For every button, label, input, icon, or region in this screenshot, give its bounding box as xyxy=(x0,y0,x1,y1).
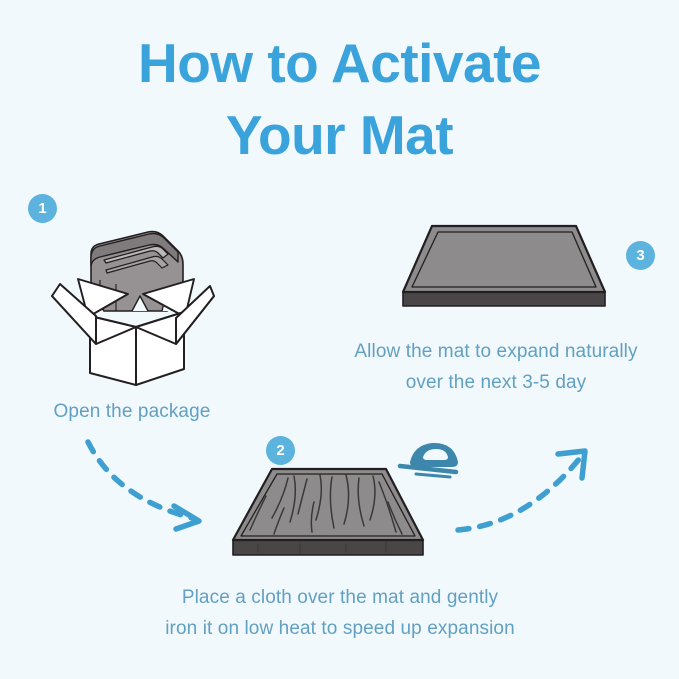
title-line-2: Your Mat xyxy=(0,100,679,172)
open-box-illustration xyxy=(44,218,219,391)
step-2-caption: Place a cloth over the mat and gently ir… xyxy=(110,582,570,644)
caption-line: Place a cloth over the mat and gently xyxy=(110,582,570,613)
caption-line: over the next 3-5 day xyxy=(312,367,679,398)
arrow-step2-to-step3 xyxy=(452,438,602,543)
step-1-caption: Open the package xyxy=(0,396,264,427)
arrow-step1-to-step2 xyxy=(82,436,222,541)
step-badge-2: 2 xyxy=(266,436,295,465)
step-badge-3: 3 xyxy=(626,241,655,270)
caption-line: Allow the mat to expand naturally xyxy=(312,336,679,367)
caption-line: iron it on low heat to speed up expansio… xyxy=(110,613,570,644)
page-title: How to Activate Your Mat xyxy=(0,28,679,171)
flat-mat-illustration xyxy=(398,218,610,323)
wrinkled-mat-illustration xyxy=(228,462,428,572)
title-line-1: How to Activate xyxy=(0,28,679,100)
step-3-caption: Allow the mat to expand naturally over t… xyxy=(312,336,679,398)
infographic-canvas: How to Activate Your Mat 1 xyxy=(0,0,679,679)
caption-line: Open the package xyxy=(0,396,264,427)
